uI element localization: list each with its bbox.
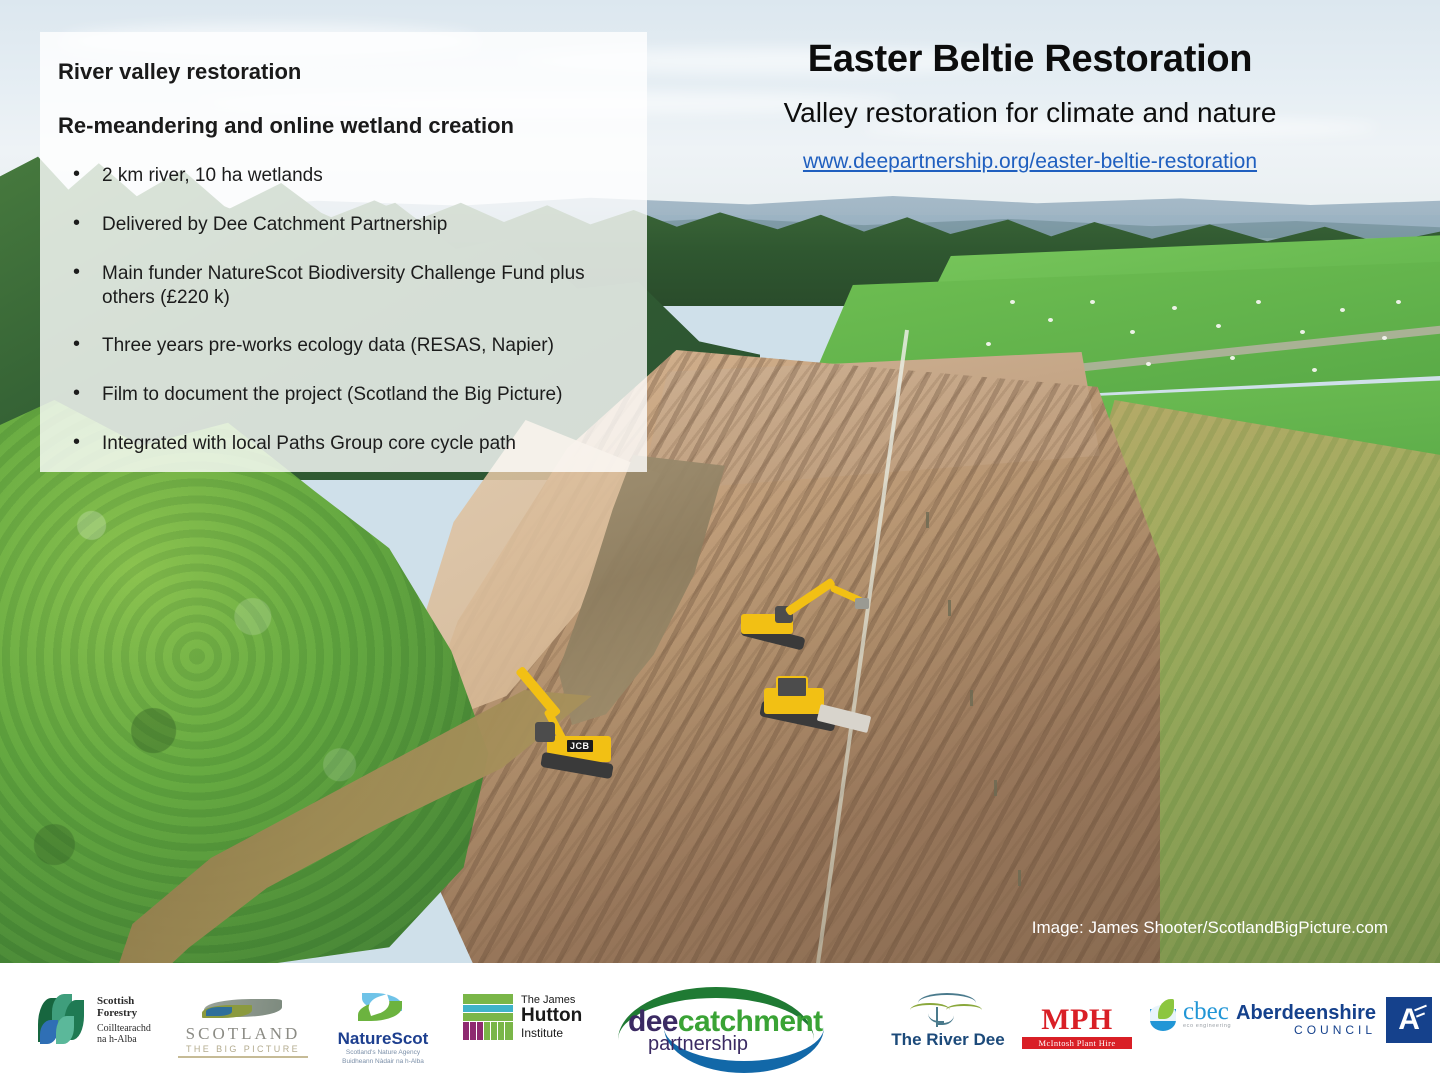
sheep: [1396, 300, 1401, 304]
project-url-link[interactable]: www.deepartnership.org/easter-beltie-res…: [660, 150, 1400, 174]
panel-bullet-list: 2 km river, 10 ha wetlands Delivered by …: [58, 164, 617, 455]
naturescot-line3: Buidheann Nàdair na h-Alba: [313, 1058, 453, 1067]
info-panel: River valley restoration Re-meandering a…: [40, 32, 647, 472]
hutton-bar: [505, 1022, 513, 1040]
logo-aberdeenshire-council: Aberdeenshire COUNCIL A: [1236, 997, 1432, 1043]
sheep: [1256, 300, 1261, 304]
page-title: Easter Beltie Restoration: [660, 38, 1400, 81]
aberdeenshire-line2: COUNCIL: [1236, 1024, 1376, 1037]
bulldozer: [760, 672, 870, 742]
sheep: [1090, 300, 1095, 304]
logo-james-hutton-institute: The James Hutton Institute: [463, 994, 582, 1040]
river-dee-icon: [906, 991, 990, 1029]
bulldozer-cab: [776, 676, 808, 698]
sbp-rule: [178, 1056, 308, 1058]
hutton-band-green: [463, 994, 513, 1004]
excavator-upper: [735, 580, 865, 660]
excavator-boom: [515, 666, 561, 718]
scottish-forestry-line1: Scottish: [97, 995, 151, 1007]
excavator-boom: [784, 577, 835, 616]
sheep: [1146, 362, 1151, 366]
excavator-bucket: [855, 598, 869, 609]
cbec-tagline: eco engineering: [1183, 1023, 1231, 1029]
naturescot-icon: [354, 991, 412, 1027]
sheep: [1216, 324, 1221, 328]
logo-the-river-dee: The River Dee: [878, 991, 1018, 1050]
mph-tagline: McIntosh Plant Hire: [1022, 1037, 1132, 1049]
partner-logo-bar: Scottish Forestry Coilltearachd na h-Alb…: [0, 963, 1440, 1080]
sheep: [1172, 306, 1177, 310]
river-branch: [938, 1011, 954, 1025]
scottish-forestry-line3: Coilltearachd: [97, 1023, 151, 1034]
logo-mph-mcintosh-plant-hire: MPH McIntosh Plant Hire: [1022, 1003, 1132, 1049]
hutton-band-blue: [463, 1005, 513, 1012]
hutton-bar: [470, 1022, 476, 1040]
feather-blue: [206, 1007, 232, 1016]
hutton-icon: [463, 994, 513, 1040]
logo-scottish-forestry: Scottish Forestry Coilltearachd na h-Alb…: [36, 994, 151, 1046]
mph-wordmark: MPH: [1022, 1003, 1132, 1037]
scottish-forestry-icon: [36, 994, 88, 1046]
sheep: [1010, 300, 1015, 304]
logo-scotland-big-picture: SCOTLAND THE BIG PICTURE: [178, 995, 308, 1058]
list-item: Integrated with local Paths Group core c…: [58, 432, 617, 456]
panel-heading-1: River valley restoration: [58, 60, 617, 84]
aberdeenshire-line1: Aberdeenshire: [1236, 1003, 1376, 1024]
fence-post: [926, 512, 929, 528]
logo-naturescot: NatureScot Scotland's Nature Agency Buid…: [313, 991, 453, 1067]
sheep: [1312, 368, 1317, 372]
sheep: [1382, 336, 1387, 340]
cbec-wordmark: cbec: [1183, 1001, 1231, 1024]
slide-canvas: JCB Image: James Shooter/ScotlandBigPict…: [0, 0, 1440, 1080]
sheep: [1340, 308, 1345, 312]
cbec-droplet-icon: [1148, 999, 1178, 1031]
hutton-bar: [477, 1022, 483, 1040]
sheep: [986, 342, 991, 346]
sheep: [1230, 356, 1235, 360]
logo-cbec: cbec eco engineering: [1148, 999, 1231, 1031]
sheep: [1300, 330, 1305, 334]
sbp-line2: THE BIG PICTURE: [178, 1044, 308, 1054]
sheep: [1048, 318, 1053, 322]
fence-post: [948, 600, 951, 616]
hutton-line2: Hutton: [521, 1006, 582, 1027]
logo-dee-catchment-partnership: deecatchment partnership: [612, 983, 824, 1055]
fence-post: [1018, 870, 1021, 886]
list-item: Main funder NatureScot Biodiversity Chal…: [58, 262, 617, 310]
panel-heading-2: Re-meandering and online wetland creatio…: [58, 114, 617, 138]
aberdeenshire-mark-box: A: [1386, 997, 1432, 1043]
scottish-forestry-line4: na h-Alba: [97, 1034, 151, 1045]
list-item: Film to document the project (Scotland t…: [58, 383, 617, 407]
excavator-cab: [535, 722, 555, 742]
hutton-bar: [498, 1022, 504, 1040]
hutton-bar: [463, 1022, 469, 1040]
image-credit: Image: James Shooter/ScotlandBigPicture.…: [1032, 918, 1388, 938]
naturescot-line2: Scotland's Nature Agency: [313, 1049, 453, 1058]
list-item: Three years pre-works ecology data (RESA…: [58, 334, 617, 358]
scottish-forestry-line2: Forestry: [97, 1007, 151, 1019]
list-item: Delivered by Dee Catchment Partnership: [58, 213, 617, 237]
fence-post: [994, 780, 997, 796]
fence-post: [970, 690, 973, 706]
hutton-bar: [484, 1022, 490, 1040]
hutton-band-green: [463, 1013, 513, 1021]
naturescot-line1: NatureScot: [313, 1029, 453, 1049]
jcb-brand-label: JCB: [567, 740, 593, 752]
river-dee-label: The River Dee: [878, 1030, 1018, 1050]
page-subtitle: Valley restoration for climate and natur…: [660, 97, 1400, 129]
feather-icon: [200, 995, 286, 1021]
dcp-word-partnership: partnership: [648, 1033, 748, 1056]
sbp-line1: SCOTLAND: [178, 1024, 308, 1044]
hutton-bar: [491, 1022, 497, 1040]
hutton-line3: Institute: [521, 1027, 582, 1040]
list-item: 2 km river, 10 ha wetlands: [58, 164, 617, 188]
excavator-lower-jcb: JCB: [505, 648, 640, 778]
sheep: [1130, 330, 1135, 334]
